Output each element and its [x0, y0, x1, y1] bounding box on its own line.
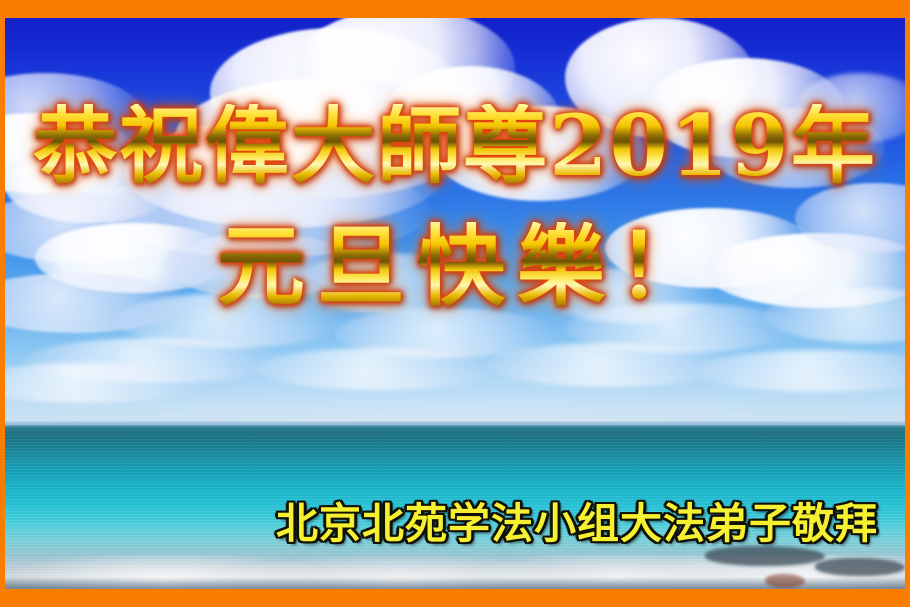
greeting-line-2: 元旦快樂！	[0, 222, 910, 310]
signature-text: 北京北苑学法小组大法弟子敬拜	[276, 490, 878, 551]
greeting-card: 恭祝偉大師尊2019年 元旦快樂！ 北京北苑学法小组大法弟子敬拜	[0, 0, 910, 607]
rock-shape	[815, 558, 905, 576]
cloud-shape	[485, 343, 735, 387]
border-top	[0, 0, 910, 18]
cloud-shape	[255, 348, 505, 390]
greeting-line-1: 恭祝偉大師尊2019年	[0, 104, 910, 188]
border-right	[905, 0, 910, 607]
rock-shape	[765, 574, 805, 588]
border-left	[0, 0, 5, 607]
border-bottom	[0, 589, 910, 607]
